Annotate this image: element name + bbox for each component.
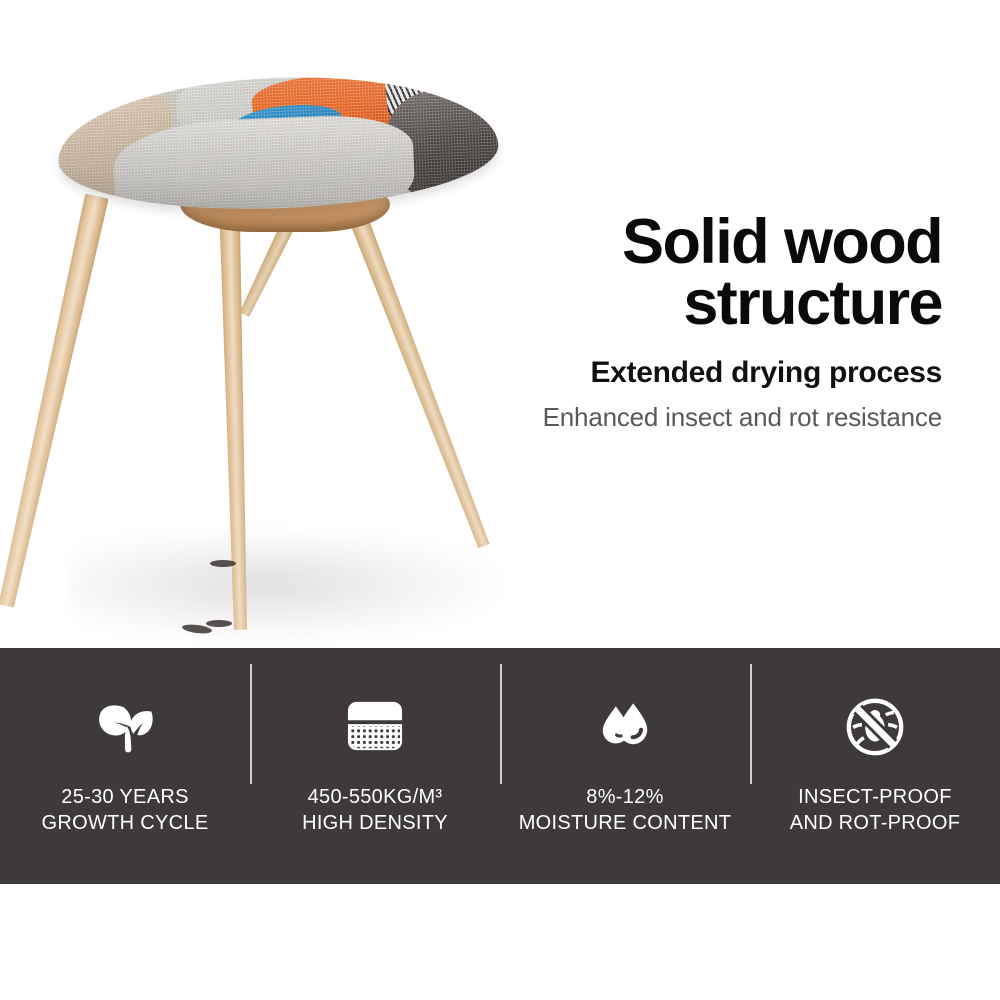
feature-label: 25-30 YEARSGROWTH CYCLE bbox=[42, 784, 209, 837]
feature-high-density: 450-550KG/M³HIGH DENSITY bbox=[250, 648, 500, 884]
feature-label-line-1: INSECT-PROOF bbox=[798, 786, 952, 808]
supporting-text: Enhanced insect and rot resistance bbox=[522, 402, 942, 433]
feature-label-line-1: 25-30 YEARS bbox=[61, 786, 188, 808]
feature-label: 450-550KG/M³HIGH DENSITY bbox=[302, 784, 448, 837]
seat-shading-overlay bbox=[56, 70, 501, 217]
headline-line-2: structure bbox=[522, 273, 942, 334]
density-block-icon bbox=[337, 696, 413, 758]
chair-foot-pad-middle bbox=[206, 620, 232, 627]
feature-label-line-2: HIGH DENSITY bbox=[302, 810, 448, 836]
feature-moisture-content: 8%-12%MOISTURE CONTENT bbox=[500, 648, 750, 884]
chair-leg-front-right bbox=[343, 205, 496, 550]
product-feature-banner: Solid woodstructure Extended drying proc… bbox=[0, 0, 1000, 1000]
subheadline: Extended drying process bbox=[522, 356, 942, 390]
feature-label: 8%-12%MOISTURE CONTENT bbox=[519, 784, 732, 837]
feature-growth-cycle: 25-30 YEARSGROWTH CYCLE bbox=[0, 648, 250, 884]
no-insect-icon bbox=[837, 696, 913, 758]
product-image-chair bbox=[30, 60, 550, 600]
leaf-sprout-icon bbox=[87, 696, 163, 758]
feature-label: INSECT-PROOFAND ROT-PROOF bbox=[790, 784, 961, 837]
feature-insect-rot-proof: INSECT-PROOFAND ROT-PROOF bbox=[750, 648, 1000, 884]
headline-line-1: Solid wood bbox=[622, 207, 942, 277]
water-droplets-icon bbox=[587, 696, 663, 758]
feature-label-line-1: 8%-12% bbox=[586, 786, 663, 808]
feature-label-line-2: MOISTURE CONTENT bbox=[519, 810, 732, 836]
headline: Solid woodstructure bbox=[522, 212, 942, 334]
chair-patchwork-seat bbox=[56, 70, 501, 217]
hero-section: Solid woodstructure Extended drying proc… bbox=[0, 0, 1000, 648]
chair-foot-pad-right bbox=[210, 560, 236, 567]
feature-label-line-2: GROWTH CYCLE bbox=[42, 810, 209, 836]
marketing-copy-block: Solid woodstructure Extended drying proc… bbox=[522, 212, 942, 433]
feature-bar: 25-30 YEARSGROWTH CYCLE 450-550KG/M³HIGH… bbox=[0, 648, 1000, 884]
feature-label-line-2: AND ROT-PROOF bbox=[790, 810, 961, 836]
chair-floor-shadow bbox=[70, 530, 500, 640]
feature-label-line-1: 450-550KG/M³ bbox=[308, 786, 443, 808]
